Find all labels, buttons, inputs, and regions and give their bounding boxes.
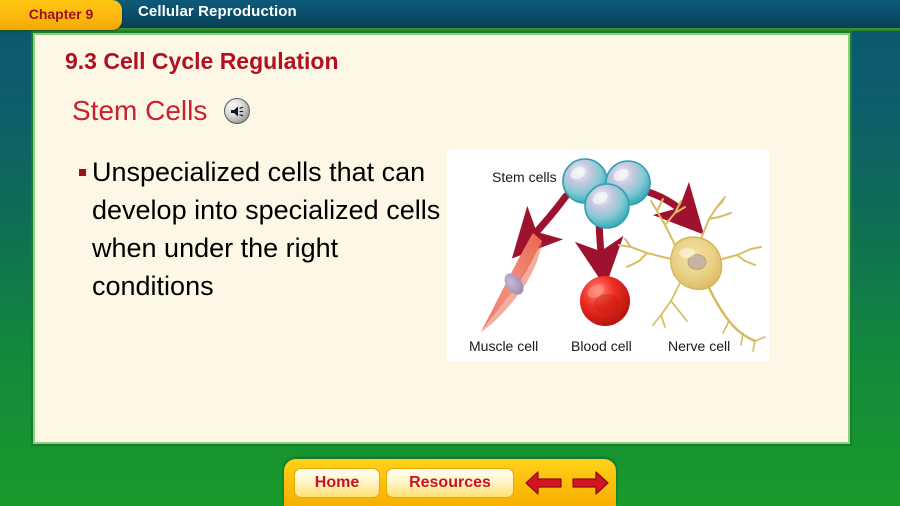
bullet-text: Unspecialized cells that can develop int… [92,153,449,305]
presentation-title: Cellular Reproduction [138,3,297,20]
blood-cell-icon [580,276,630,326]
slide-content: 9.3 Cell Cycle Regulation Stem Cells [35,35,848,442]
figure-label-nerve-cell: Nerve cell [668,338,730,354]
nerve-cell-icon [619,197,765,351]
bottom-nav-bar: Home Resources [284,459,616,506]
chapter-tab-label: Chapter 9 [0,0,122,30]
nav-arrow-group [524,470,610,496]
arrow-right-icon[interactable] [570,470,610,496]
page-title: 9.3 Cell Cycle Regulation [65,48,339,75]
top-header-bar [0,0,900,28]
stem-cell-diagram-svg: Stem cells Muscle cell Blood cell Nerve … [447,149,769,361]
muscle-cell-icon [481,233,542,332]
figure-label-muscle-cell: Muscle cell [469,338,538,354]
slide-subtitle: Stem Cells [72,95,207,127]
stem-cell-cluster-icon [563,159,650,228]
subtitle-row: Stem Cells [72,95,250,127]
arrow-to-muscle-icon [530,196,566,239]
chapter-tab[interactable]: Chapter 9 [0,0,122,30]
content-frame-inner: 9.3 Cell Cycle Regulation Stem Cells [33,33,850,444]
slide-root: Cellular Reproduction Chapter 9 9.3 Cell… [0,0,900,506]
figure-label-stem-cells: Stem cells [492,169,557,185]
stem-cell-diagram: Stem cells Muscle cell Blood cell Nerve … [447,149,769,361]
speaker-icon[interactable] [224,98,250,124]
content-frame: 9.3 Cell Cycle Regulation Stem Cells [31,31,852,446]
arrow-left-icon[interactable] [524,470,564,496]
bullet-marker-icon [79,169,86,176]
bullet-item: Unspecialized cells that can develop int… [79,153,449,305]
home-button[interactable]: Home [294,468,380,498]
figure-label-blood-cell: Blood cell [571,338,632,354]
resources-button[interactable]: Resources [386,468,514,498]
